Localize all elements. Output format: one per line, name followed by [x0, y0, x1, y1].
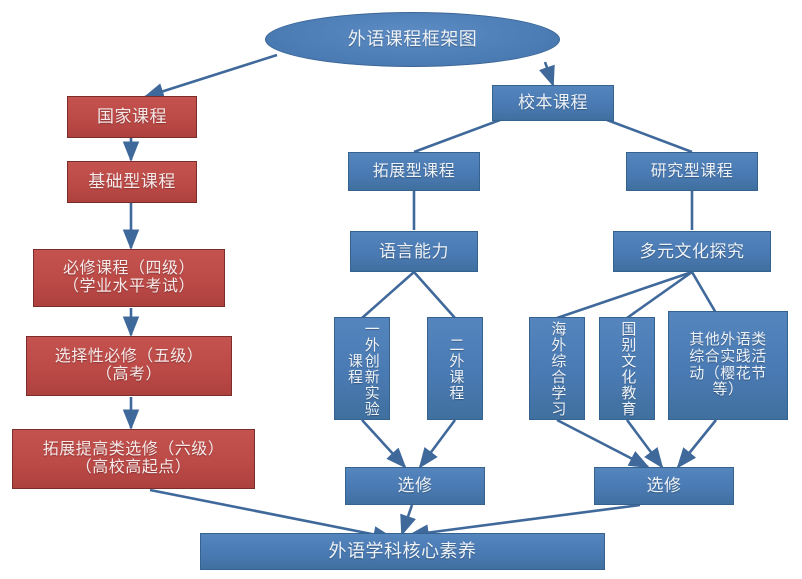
node-elective-right[interactable]: 选修	[594, 467, 734, 505]
edge-overseas-electiveright	[557, 420, 648, 467]
node-other-practice-line4: 等）	[712, 382, 743, 399]
node-required-course-line2: （学业水平考试）	[63, 278, 195, 296]
node-core-literacy[interactable]: 外语学科核心素养	[200, 533, 605, 570]
node-second-foreign-course[interactable]: 二外课程	[427, 317, 483, 420]
node-required-course-line1: 必修课程（四级）	[63, 260, 195, 278]
node-overseas-study[interactable]: 海外综合学习	[529, 317, 585, 420]
node-first-foreign-innovation[interactable]: 一外创新实验课程	[334, 317, 390, 420]
edge-language-second	[414, 272, 455, 318]
node-overseas-study-label: 海外综合学习	[549, 321, 566, 417]
node-multicultural-inquiry-label: 多元文化探究	[640, 242, 745, 261]
node-elective-required-line1: 选择性必修（五级）	[55, 348, 204, 366]
node-extended-elective-line1: 拓展提高类选修（六级）	[43, 441, 225, 459]
node-second-foreign-course-label: 二外课程	[447, 337, 464, 401]
edge-school-extended	[414, 120, 500, 152]
node-other-practice-line2: 综合实践活	[689, 349, 767, 366]
node-root-title[interactable]: 外语课程框架图	[265, 12, 560, 67]
edge-second-electiveleft	[420, 420, 455, 467]
node-core-literacy-label: 外语学科核心素养	[329, 541, 477, 561]
node-school-curriculum[interactable]: 校本课程	[492, 85, 614, 121]
node-required-course[interactable]: 必修课程（四级） （学业水平考试）	[33, 249, 225, 307]
node-elective-left[interactable]: 选修	[345, 467, 485, 505]
node-extended-course[interactable]: 拓展型课程	[348, 152, 480, 191]
node-extended-elective[interactable]: 拓展提高类选修（六级） （高校高起点）	[12, 429, 255, 489]
node-research-course[interactable]: 研究型课程	[626, 152, 758, 191]
node-language-ability[interactable]: 语言能力	[350, 231, 478, 272]
edge-electiveleft-core	[402, 505, 412, 534]
node-elective-required[interactable]: 选择性必修（五级） （高考）	[26, 336, 232, 396]
node-elective-right-label: 选修	[647, 476, 682, 495]
node-other-practice-line1: 其他外语类	[689, 332, 767, 349]
node-multicultural-inquiry[interactable]: 多元文化探究	[613, 231, 771, 272]
node-extended-course-label: 拓展型课程	[373, 163, 456, 181]
node-other-practice-line3: 动（樱花节	[689, 366, 767, 383]
edge-country-electiveright	[627, 420, 662, 467]
edge-other-electiveright	[678, 420, 716, 467]
node-national-curriculum-label: 国家课程	[97, 107, 167, 126]
node-first-foreign-innovation-label: 一外创新实验课程	[345, 318, 379, 419]
node-elective-left-label: 选修	[398, 476, 433, 495]
edge-first-electiveleft	[362, 420, 405, 467]
edge-root-national	[145, 55, 277, 97]
edge-school-research	[607, 120, 692, 152]
node-extended-elective-line2: （高校高起点）	[76, 459, 192, 477]
edge-multicultural-other	[692, 272, 716, 313]
diagram-canvas: 外语课程框架图 国家课程 基础型课程 必修课程（四级） （学业水平考试） 选择性…	[0, 0, 802, 579]
node-country-culture-education-label: 国别文化教育	[619, 321, 636, 417]
node-elective-required-line2: （高考）	[96, 366, 162, 384]
node-research-course-label: 研究型课程	[651, 163, 734, 181]
watermark	[6, 540, 12, 552]
node-national-curriculum[interactable]: 国家课程	[67, 96, 197, 138]
node-other-practice[interactable]: 其他外语类 综合实践活 动（樱花节 等）	[668, 311, 788, 420]
node-language-ability-label: 语言能力	[379, 242, 449, 261]
node-foundation-course-label: 基础型课程	[88, 172, 176, 191]
edge-electiveright-core	[410, 505, 640, 535]
edge-root-school	[545, 62, 553, 85]
node-root-label: 外语课程框架图	[348, 29, 478, 49]
node-country-culture-education[interactable]: 国别文化教育	[599, 317, 655, 420]
node-school-curriculum-label: 校本课程	[518, 93, 588, 112]
edge-language-first	[362, 272, 414, 318]
node-foundation-course[interactable]: 基础型课程	[67, 161, 197, 203]
